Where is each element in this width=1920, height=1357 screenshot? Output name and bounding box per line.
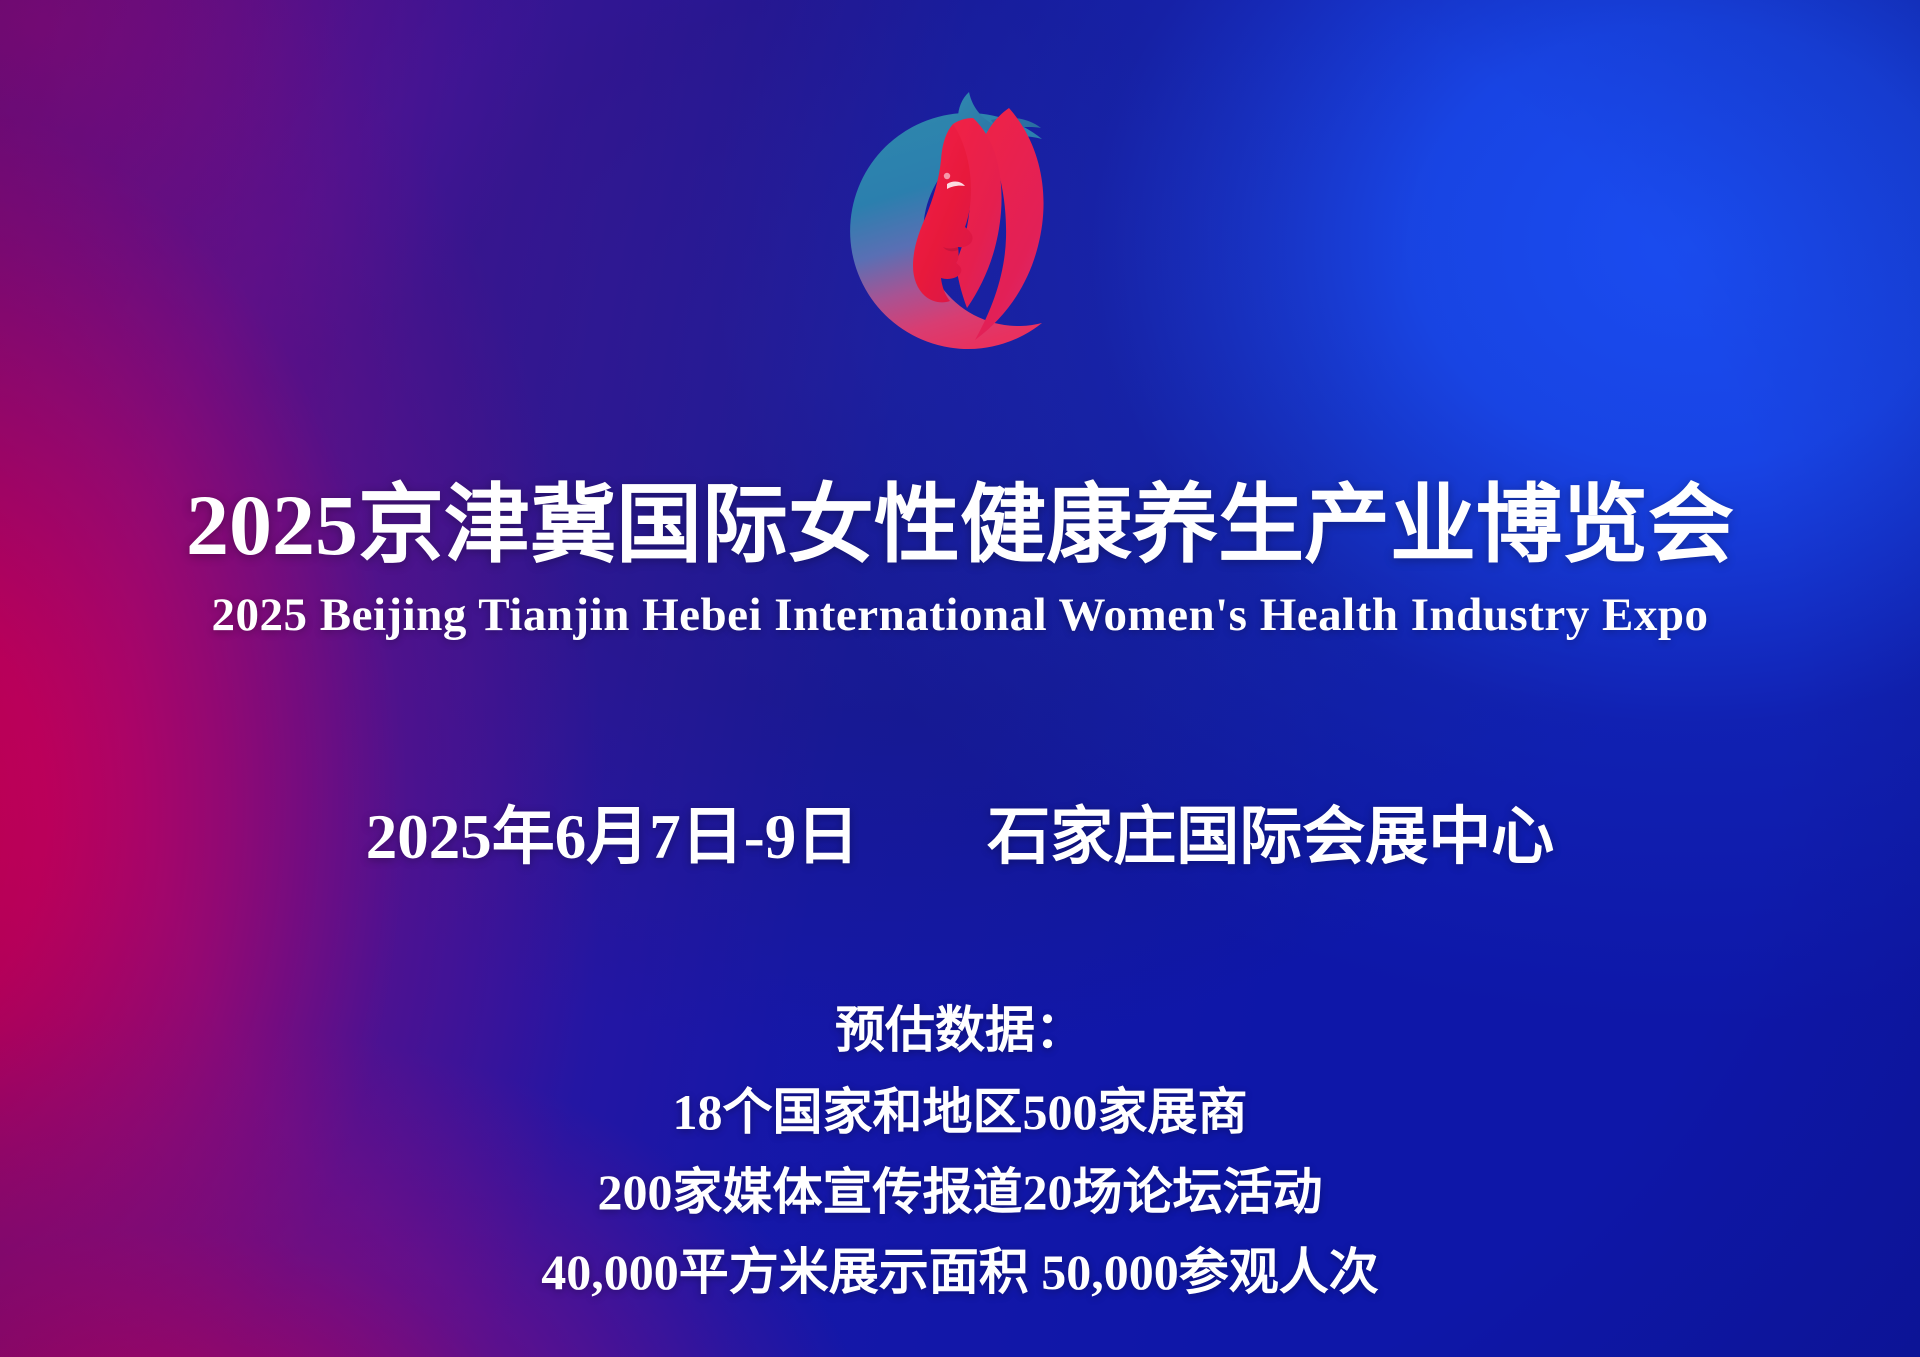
- stat-media-forums: 200家媒体宣传报道20场论坛活动: [0, 1167, 1920, 1217]
- expo-logo: [795, 66, 1125, 396]
- estimated-data-block: 预估数据： 18个国家和地区500家展商 200家媒体宣传报道20场论坛活动 4…: [0, 1005, 1920, 1297]
- poster-content: 2025京津冀国际女性健康养生产业博览会 2025 Beijing Tianji…: [0, 0, 1920, 1357]
- expo-poster: 2025京津冀国际女性健康养生产业博览会 2025 Beijing Tianji…: [0, 0, 1920, 1357]
- stat-exhibitors: 18个国家和地区500家展商: [0, 1087, 1920, 1137]
- stat-area-visitors: 40,000平方米展示面积 50,000参观人次: [0, 1247, 1920, 1297]
- event-venue: 石家庄国际会展中心: [987, 806, 1554, 869]
- logo-sparkle: [944, 173, 950, 179]
- page-title-english: 2025 Beijing Tianjin Hebei International…: [0, 592, 1920, 639]
- estimated-data-heading: 预估数据：: [0, 1005, 1920, 1055]
- page-title-chinese: 2025京津冀国际女性健康养生产业博览会: [0, 482, 1920, 568]
- event-meta-row: 2025年6月7日-9日 石家庄国际会展中心: [0, 806, 1920, 869]
- event-date: 2025年6月7日-9日: [366, 806, 859, 869]
